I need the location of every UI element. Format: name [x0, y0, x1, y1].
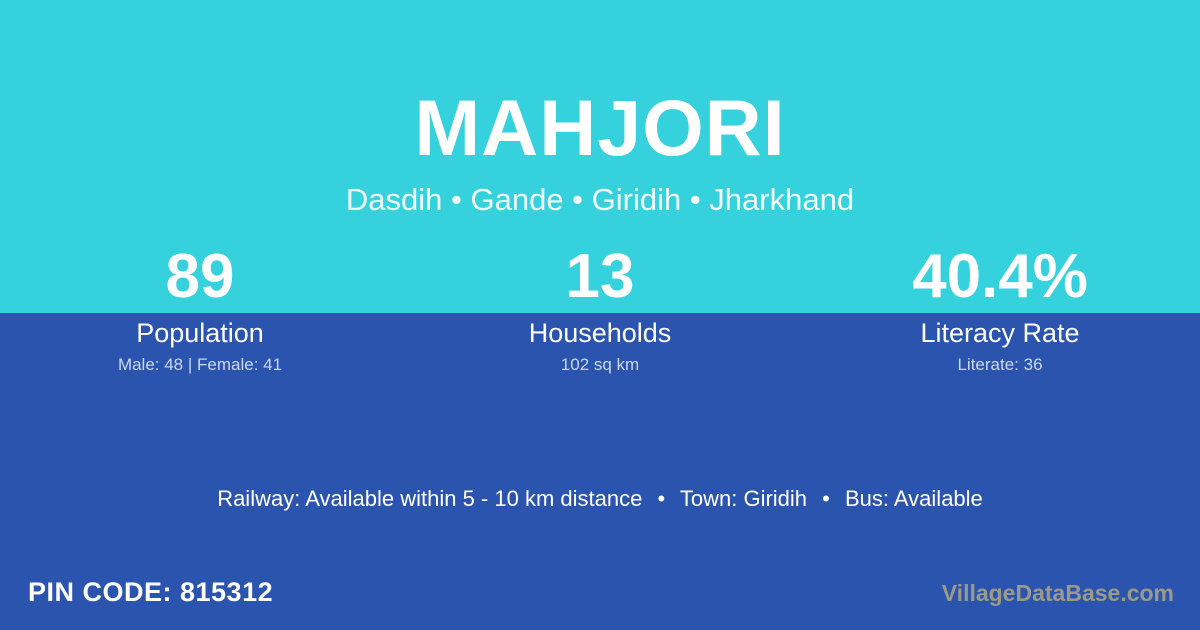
facility-town: Town: Giridih [680, 486, 807, 511]
header: MAHJORI Dasdih • Gande • Giridih • Jhark… [0, 0, 1200, 240]
facility-railway: Railway: Available within 5 - 10 km dist… [217, 486, 642, 511]
footer: PIN CODE: 815312 VillageDataBase.com [0, 572, 1200, 618]
stat-value: 89 [0, 244, 400, 310]
site-watermark: VillageDataBase.com [942, 576, 1174, 610]
stat-households: 13 Households 102 sq km [400, 240, 800, 385]
facility-bus: Bus: Available [845, 486, 983, 511]
breadcrumb: Dasdih • Gande • Giridih • Jharkhand [0, 180, 1200, 220]
village-info-card: MAHJORI Dasdih • Gande • Giridih • Jhark… [0, 0, 1200, 630]
stats-row: 89 Population Male: 48 | Female: 41 13 H… [0, 240, 1200, 385]
stat-sub: 102 sq km [400, 354, 800, 376]
stat-literacy-rate: 40.4% Literacy Rate Literate: 36 [800, 240, 1200, 385]
stat-value: 13 [400, 244, 800, 310]
bullet-separator-icon: • [648, 484, 674, 514]
stat-sub: Male: 48 | Female: 41 [0, 354, 400, 376]
bullet-separator-icon: • [813, 484, 839, 514]
stat-sub: Literate: 36 [800, 354, 1200, 376]
stat-label: Households [400, 316, 800, 350]
stat-label: Population [0, 316, 400, 350]
stat-population: 89 Population Male: 48 | Female: 41 [0, 240, 400, 385]
page-title: MAHJORI [0, 84, 1200, 172]
facilities-line: Railway: Available within 5 - 10 km dist… [0, 484, 1200, 514]
stat-label: Literacy Rate [800, 316, 1200, 350]
pin-code: PIN CODE: 815312 [28, 572, 273, 612]
stat-value: 40.4% [800, 244, 1200, 310]
